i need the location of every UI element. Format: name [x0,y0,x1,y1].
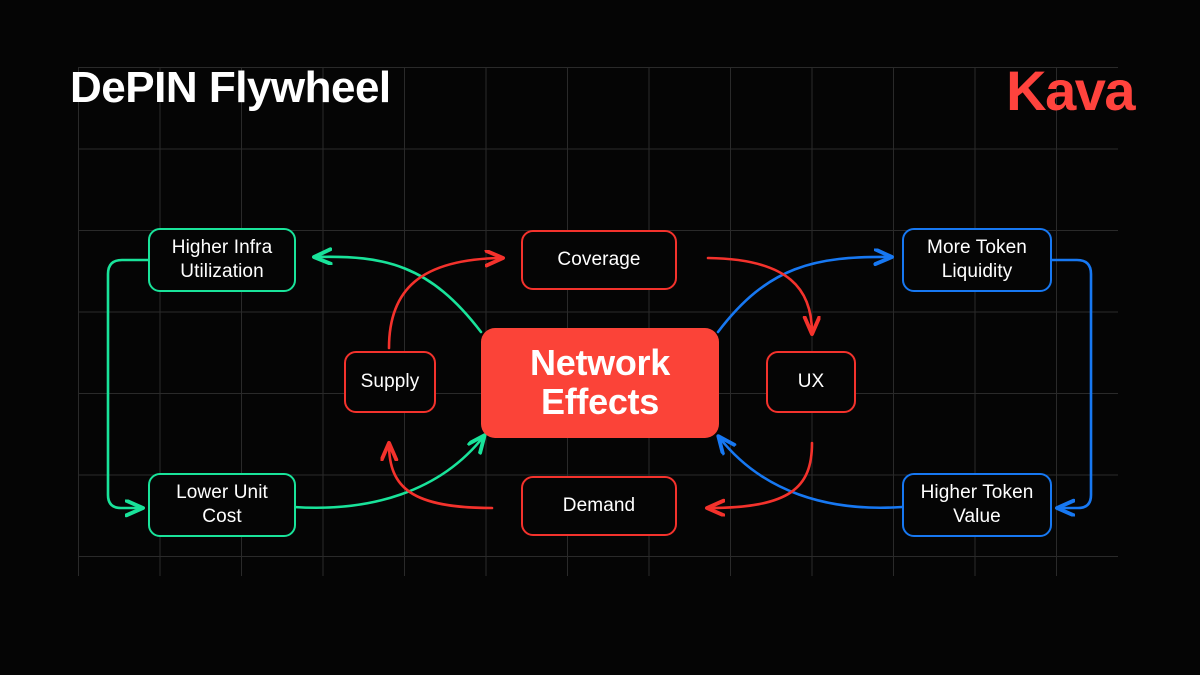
node-coverage[interactable]: Coverage [521,230,677,290]
page-title: DePIN Flywheel [70,63,391,113]
edge-network-effects-to-more-token-liquidity [718,257,891,332]
edge-more-token-liquidity-to-higher-token-value [1050,260,1091,508]
node-higher-infra-utilization[interactable]: Higher Infra Utilization [148,228,296,292]
edge-lower-unit-cost-to-network-effects [294,436,484,508]
node-label: Supply [361,370,420,394]
node-label-line2: Cost [202,506,241,527]
edge-demand-to-supply [389,444,492,508]
node-label-line2: Liquidity [942,261,1013,282]
kava-logo: Kava [1006,58,1134,123]
edge-network-effects-to-higher-infra-utilization [315,257,481,332]
node-label: Higher Token Value [921,481,1034,529]
node-label-line1: Lower Unit [176,482,268,503]
node-label: Demand [563,494,635,518]
node-label-line2: Value [953,506,1001,527]
node-higher-token-value[interactable]: Higher Token Value [902,473,1052,537]
node-ux[interactable]: UX [766,351,856,413]
node-label: Lower Unit Cost [176,481,268,529]
node-label: Coverage [557,248,640,272]
node-supply[interactable]: Supply [344,351,436,413]
node-label-line1: Network [530,342,670,383]
node-label-line1: Higher Token [921,482,1034,503]
node-label: Network Effects [530,344,670,422]
node-label-line1: Higher Infra [172,237,272,258]
node-label: UX [798,370,825,394]
edge-higher-token-value-to-network-effects [719,437,902,508]
diagram-canvas: DePIN Flywheel Kava [0,0,1200,675]
edge-coverage-to-ux [708,258,812,333]
node-more-token-liquidity[interactable]: More Token Liquidity [902,228,1052,292]
node-network-effects[interactable]: Network Effects [481,328,719,438]
node-label: More Token Liquidity [927,236,1027,284]
edge-ux-to-demand [708,443,812,508]
node-lower-unit-cost[interactable]: Lower Unit Cost [148,473,296,537]
node-demand[interactable]: Demand [521,476,677,536]
edge-higher-infra-utilization-to-lower-unit-cost [108,260,150,508]
node-label-line2: Effects [541,381,659,422]
node-label-line1: More Token [927,237,1027,258]
node-label-line2: Utilization [180,261,263,282]
node-label: Higher Infra Utilization [172,236,272,284]
